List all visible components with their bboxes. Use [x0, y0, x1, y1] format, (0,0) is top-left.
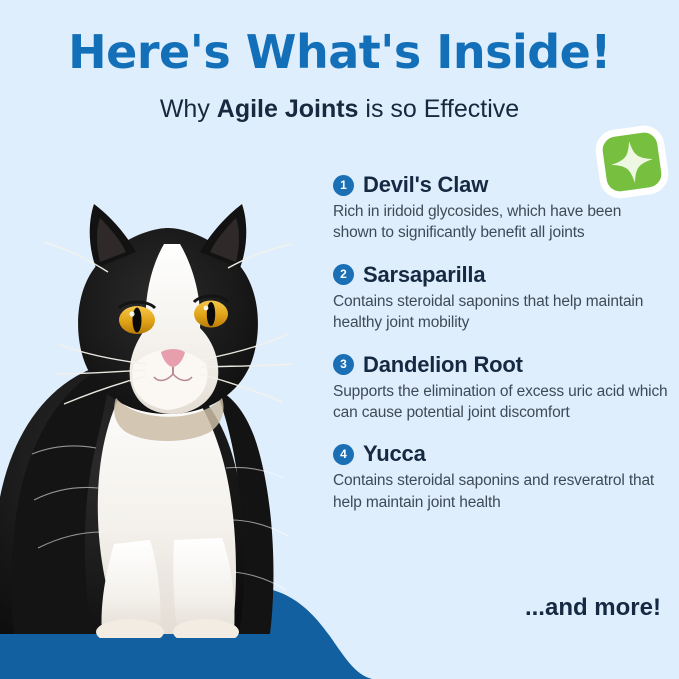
page-subtitle: Why Agile Joints is so Effective [0, 95, 679, 124]
ingredient-heading: 4 Yucca [333, 441, 668, 467]
ingredient-name: Devil's Claw [363, 172, 488, 198]
subtitle-prefix: Why [160, 95, 217, 123]
ingredient-name: Sarsaparilla [363, 262, 485, 288]
number-badge-icon: 1 [333, 175, 354, 196]
ingredient-description: Contains steroidal saponins that help ma… [333, 291, 668, 334]
ingredient-heading: 2 Sarsaparilla [333, 262, 668, 288]
ingredient-item-1: 1 Devil's Claw Rich in iridoid glycoside… [333, 172, 668, 244]
ingredient-heading: 3 Dandelion Root [333, 352, 668, 378]
ingredient-item-2: 2 Sarsaparilla Contains steroidal saponi… [333, 262, 668, 334]
number-badge-icon: 3 [333, 354, 354, 375]
ingredient-item-3: 3 Dandelion Root Supports the eliminatio… [333, 352, 668, 424]
page-title: Here's What's Inside! [0, 28, 679, 76]
ingredient-name: Dandelion Root [363, 352, 523, 378]
number-badge-icon: 2 [333, 264, 354, 285]
ingredient-list: 1 Devil's Claw Rich in iridoid glycoside… [333, 172, 668, 513]
ingredient-description: Rich in iridoid glycosides, which have b… [333, 201, 668, 244]
ingredient-name: Yucca [363, 441, 426, 467]
and-more-label: ...and more! [525, 594, 661, 622]
ingredient-heading: 1 Devil's Claw [333, 172, 668, 198]
tuxedo-cat-photo [0, 148, 344, 638]
ingredient-description: Contains steroidal saponins and resverat… [333, 470, 668, 513]
ingredient-item-4: 4 Yucca Contains steroidal saponins and … [333, 441, 668, 513]
subtitle-brand: Agile Joints [217, 95, 359, 123]
number-badge-icon: 4 [333, 444, 354, 465]
ingredient-description: Supports the elimination of excess uric … [333, 381, 668, 424]
subtitle-suffix: is so Effective [358, 95, 519, 123]
product-ingredients-infographic: Here's What's Inside! Why Agile Joints i… [0, 0, 679, 679]
